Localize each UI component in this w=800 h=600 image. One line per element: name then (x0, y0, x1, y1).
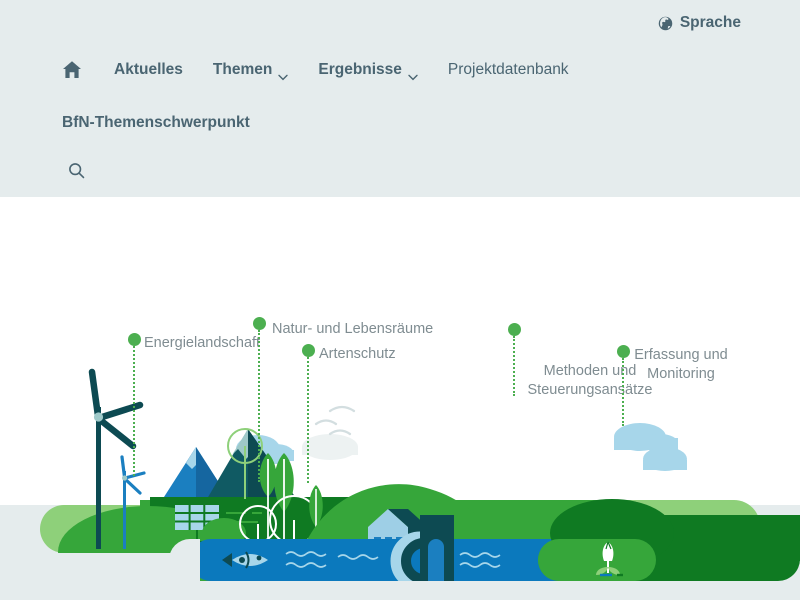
site-header: Sprache Aktuelles Themen (0, 0, 800, 197)
nav-item-aktuelles-label: Aktuelles (114, 61, 183, 79)
nav-item-themen[interactable]: Themen (213, 61, 288, 79)
nav-item-themen-label: Themen (213, 61, 272, 79)
hero-dot-artenschutz[interactable] (302, 344, 315, 357)
search-icon (68, 162, 85, 179)
nav-item-ergebnisse-label: Ergebnisse (318, 61, 402, 79)
hero-dot-methoden-steuerungsansaetze[interactable] (508, 323, 521, 336)
globe-icon (658, 16, 673, 31)
language-label: Sprache (680, 14, 741, 32)
hero-stem-natur-lebensraeume (258, 330, 260, 482)
hero-illustration (0, 197, 800, 600)
subnav-bfn-themenschwerpunkt[interactable]: BfN-Themenschwerpunkt (62, 114, 250, 132)
chevron-down-icon (408, 68, 418, 75)
nav-item-projektdatenbank-label: Projektdatenbank (448, 61, 569, 79)
nav-item-home[interactable] (62, 60, 88, 79)
hero-stem-methoden-steuerungsansaetze (513, 336, 515, 396)
hero-dot-energielandschaft[interactable] (128, 333, 141, 346)
hero-stem-artenschutz (307, 357, 309, 483)
nav-item-projektdatenbank[interactable]: Projektdatenbank (448, 61, 569, 79)
hero-stem-erfassung-monitoring (622, 358, 624, 426)
hero-stem-energielandschaft (133, 346, 135, 476)
chevron-down-icon (278, 68, 288, 75)
nav-item-aktuelles[interactable]: Aktuelles (114, 61, 183, 79)
hero-dot-erfassung-monitoring[interactable] (617, 345, 630, 358)
page-root: Sprache Aktuelles Themen (0, 0, 800, 600)
nav-item-ergebnisse[interactable]: Ergebnisse (318, 61, 418, 79)
main-navigation: Aktuelles Themen Ergebnisse Projektdaten… (62, 60, 599, 79)
home-icon (62, 60, 82, 79)
hero-section: NATURSCHUTZ UND ERNEUERBARE ENERGIEN For… (0, 197, 800, 600)
language-switcher[interactable]: Sprache (658, 14, 741, 32)
search-button[interactable] (68, 162, 94, 188)
hero-dot-natur-lebensraeume[interactable] (253, 317, 266, 330)
